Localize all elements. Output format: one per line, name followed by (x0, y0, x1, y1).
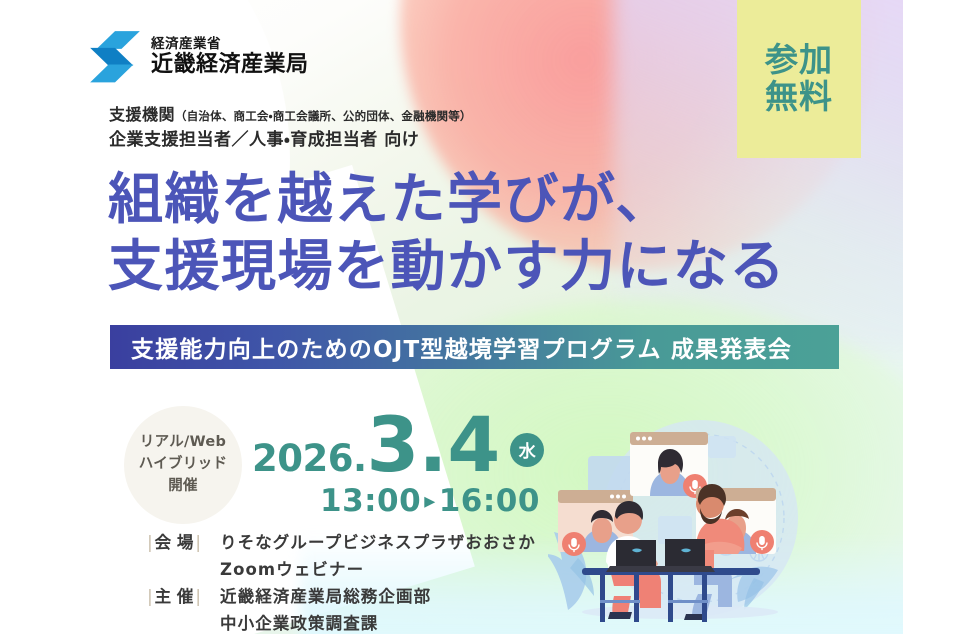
free-participation-badge: 参加 無料 (737, 0, 861, 158)
video-window-top (630, 432, 708, 498)
hybrid-meeting-illustration (548, 408, 848, 634)
venue-value: りそなグループビジネスプラザおおさか Zoomウェビナー (220, 530, 536, 583)
event-time-end: 16:00 (439, 483, 540, 519)
event-year: 2026. (252, 437, 367, 480)
host-value-line2: 中小企業政策調査課 (220, 611, 431, 634)
audience-org-examples: （自治体、商工会・商工会議所、公的団体、金融機関等） (175, 109, 472, 123)
audience-line-2: 企業支援担当者／人事・育成担当者 向け (109, 128, 472, 154)
event-date-block: 2026. 3 . 4 水 13:00▸16:00 (252, 410, 544, 519)
audience-org-type: 支援機関 (109, 105, 175, 124)
hybrid-line-2: ハイブリッド (139, 454, 228, 476)
label-bar-left-icon: | (147, 530, 153, 557)
page-title: 組織を越えた学びが、 支援現場を動かす力になる (108, 166, 878, 300)
host-value: 近畿経済産業局総務企画部 中小企業政策調査課 (220, 584, 431, 634)
venue-label-wrap: | 会 場 | (128, 530, 220, 557)
label-bar-left-icon: | (147, 584, 153, 611)
venue-value-line2: Zoomウェビナー (220, 557, 536, 584)
date-separator: . (418, 410, 447, 480)
meti-logo-icon (88, 30, 142, 84)
event-date-line: 2026. 3 . 4 水 (252, 410, 544, 481)
logo-text: 経済産業省 近畿経済産業局 (151, 37, 309, 78)
audience-line-1: 支援機関（自治体、商工会・商工会議所、公的団体、金融機関等） (109, 103, 472, 128)
free-badge-line2: 無料 (765, 79, 833, 116)
hybrid-line-1: リアル/Web (140, 432, 226, 454)
free-badge-line1: 参加 (765, 42, 833, 79)
day-of-week-label: 水 (519, 437, 536, 462)
program-title-text: 支援能力向上のためのOJT型越境学習プログラム 成果発表会 (110, 330, 792, 364)
logo-bureau-name: 近畿経済産業局 (151, 52, 309, 77)
venue-label: 会 場 (155, 530, 194, 557)
day-of-week-badge: 水 (510, 433, 544, 467)
label-bar-right-icon: | (195, 584, 201, 611)
host-label: 主 催 (155, 584, 194, 611)
host-value-line1: 近畿経済産業局総務企画部 (220, 587, 431, 606)
venue-row: | 会 場 | りそなグループビジネスプラザおおさか Zoomウェビナー (128, 530, 536, 583)
poster-canvas: 参加 無料 経済産業省 近畿経済産業局 支援機関（自治体、商工会・商工会議所、公… (0, 0, 960, 634)
program-title-bar: 支援能力向上のためのOJT型越境学習プログラム 成果発表会 (110, 325, 839, 369)
target-audience: 支援機関（自治体、商工会・商工会議所、公的団体、金融機関等） 企業支援担当者／人… (109, 103, 472, 153)
label-bar-right-icon: | (195, 530, 201, 557)
venue-value-line1: りそなグループビジネスプラザおおさか (220, 533, 536, 552)
host-row: | 主 催 | 近畿経済産業局総務企画部 中小企業政策調査課 (128, 584, 536, 634)
hybrid-line-3: 開催 (168, 476, 198, 498)
event-details: | 会 場 | りそなグループビジネスプラザおおさか Zoomウェビナー | 主… (128, 530, 536, 634)
time-arrow-icon: ▸ (421, 489, 439, 514)
event-month: 3 (367, 410, 419, 480)
headline-line-2: 支援現場を動かす力になる (108, 233, 878, 300)
event-day: 4 (447, 410, 499, 480)
host-label-wrap: | 主 催 | (128, 584, 220, 611)
event-time-start: 13:00 (320, 483, 421, 519)
event-time-line: 13:00▸16:00 (252, 483, 544, 519)
illustration-svg (548, 408, 848, 634)
logo-ministry-name: 経済産業省 (151, 37, 309, 53)
hybrid-format-badge: リアル/Web ハイブリッド 開催 (124, 406, 242, 524)
headline-line-1: 組織を越えた学びが、 (108, 167, 672, 231)
organization-logo: 経済産業省 近畿経済産業局 (88, 30, 309, 84)
